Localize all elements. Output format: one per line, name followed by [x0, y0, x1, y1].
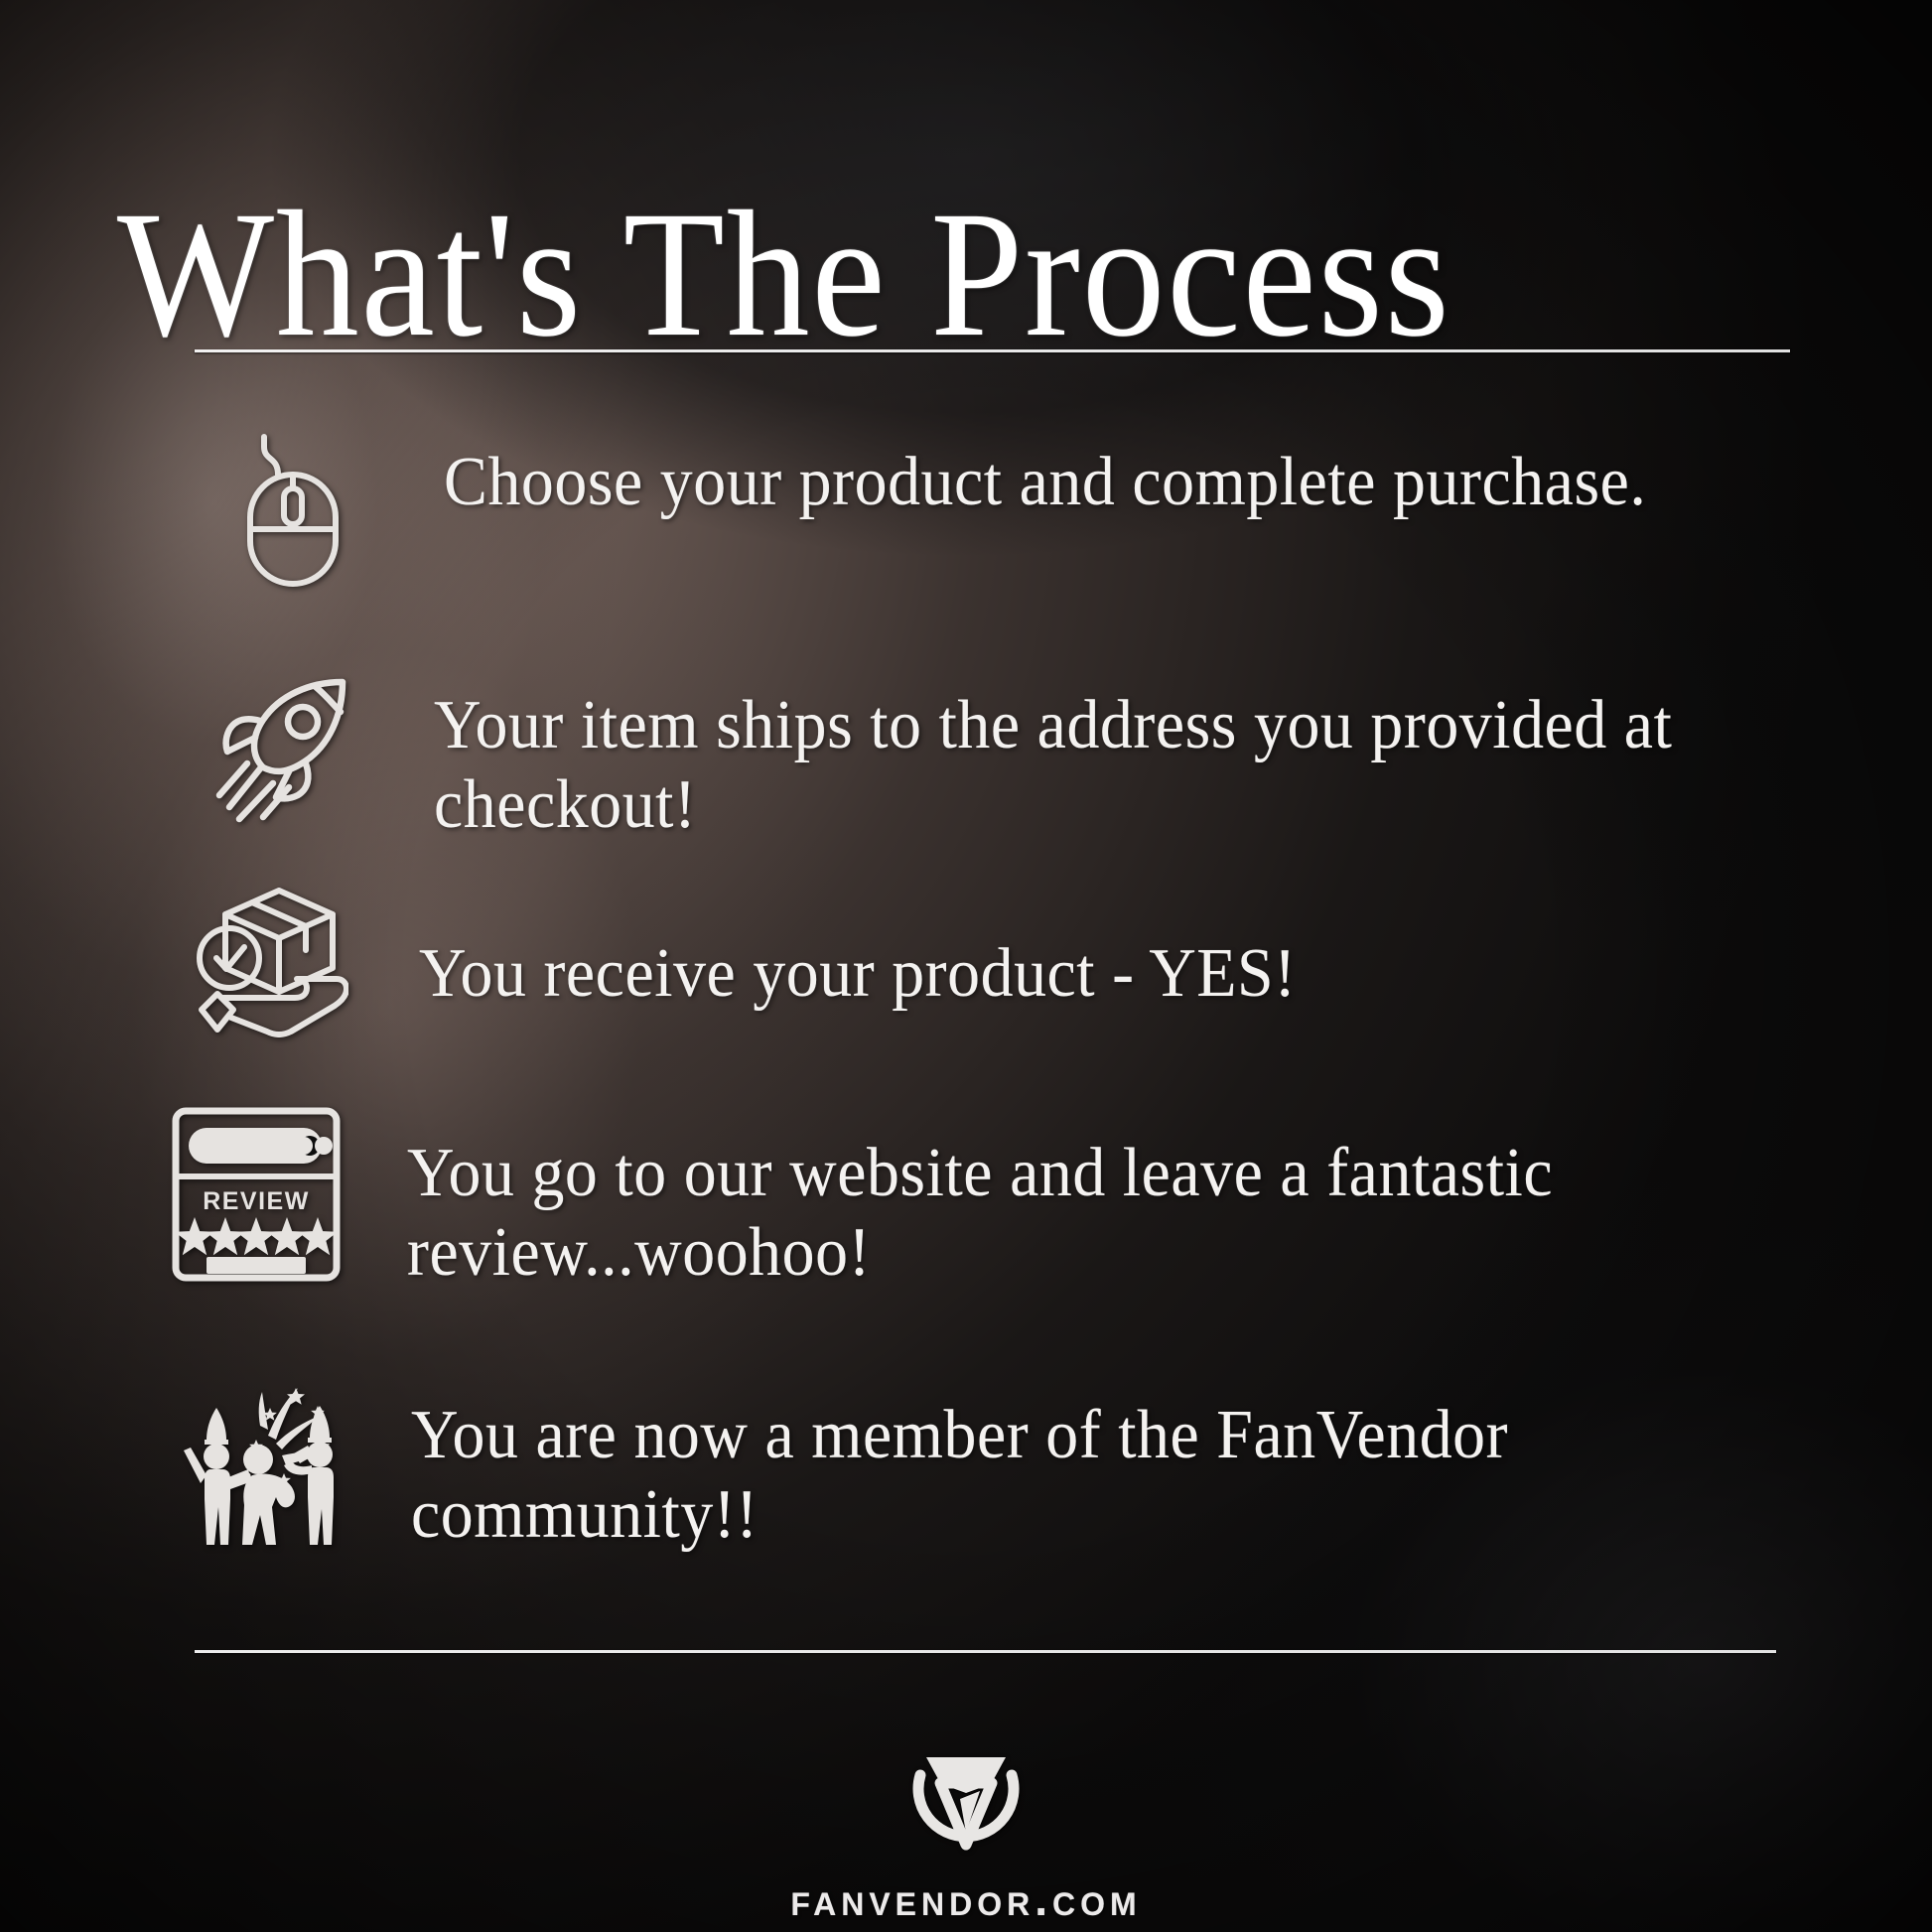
fanvendor-shield-logo [902, 1735, 1030, 1863]
star-rating [175, 1217, 338, 1255]
computer-mouse-icon [164, 421, 422, 590]
divider-top [195, 349, 1790, 352]
list-item: You receive your product - YES! [0, 883, 1932, 1106]
review-window-stars-icon: REVIEW [127, 1106, 385, 1283]
list-item-label: Choose your product and complete purchas… [444, 443, 1646, 522]
list-item: Choose your product and complete purchas… [0, 421, 1932, 664]
list-item-label: You go to our website and leave a fantas… [407, 1134, 1841, 1293]
list-item: You are now a member of the FanVendor co… [0, 1374, 1932, 1587]
list-item-label: You receive your product - YES! [419, 934, 1297, 1014]
review-label: REVIEW [203, 1187, 310, 1215]
divider-bottom [195, 1650, 1776, 1653]
page-title: What's The Process [117, 183, 1725, 367]
package-in-hand-check-icon [139, 883, 397, 1043]
list-item-label: Your item ships to the address you provi… [434, 686, 1842, 845]
process-step-list: Choose your product and complete purchas… [0, 421, 1932, 1587]
footer: FanVendor.com [0, 1735, 1932, 1926]
poster-content: What's The Process Choose your product a… [0, 0, 1932, 1932]
list-item-label: You are now a member of the FanVendor co… [411, 1396, 1841, 1555]
list-item: REVIEW You go to our website and leave a… [0, 1106, 1932, 1374]
rocket-icon [154, 664, 412, 827]
brand-wordmark: FanVendor.com [790, 1872, 1141, 1926]
celebration-people-icon [131, 1374, 389, 1549]
poster-canvas: What's The Process Choose your product a… [0, 0, 1932, 1932]
list-item: Your item ships to the address you provi… [0, 664, 1932, 883]
